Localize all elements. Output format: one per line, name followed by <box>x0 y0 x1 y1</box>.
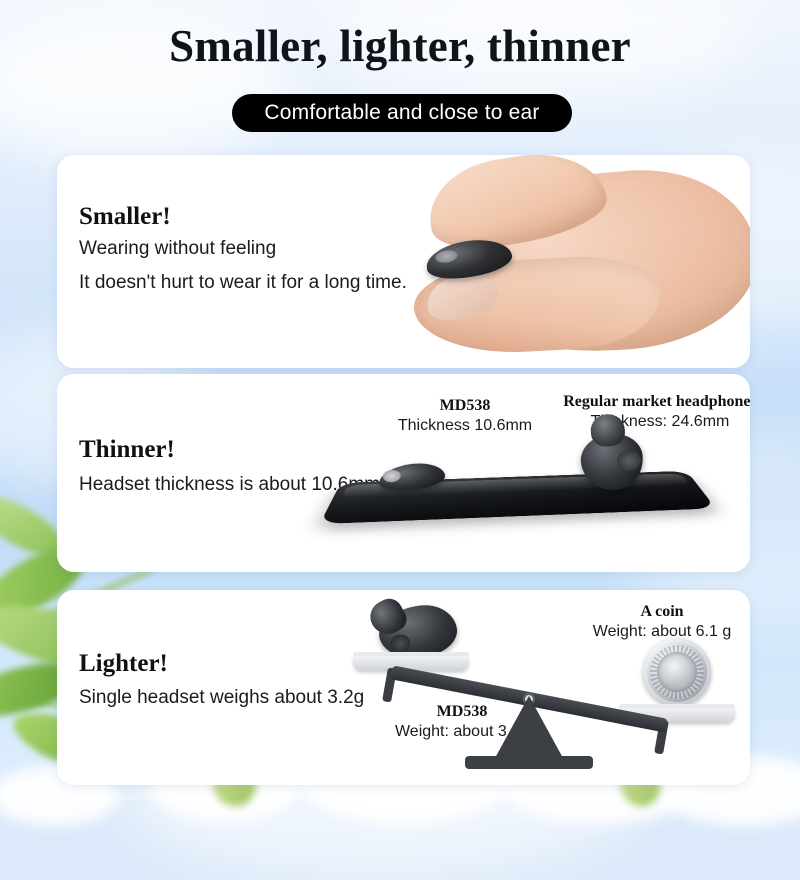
card-title: Smaller! <box>79 203 171 231</box>
feature-card-thinner: Thinner! Headset thickness is about 10.6… <box>57 374 750 572</box>
scale-post <box>495 696 563 758</box>
balance-scale-earbud-vs-coin <box>357 600 707 785</box>
callout-value: Thickness 10.6mm <box>375 416 555 437</box>
coin-icon <box>643 638 711 706</box>
page-headline: Smaller, lighter, thinner <box>0 22 800 71</box>
card-title: Thinner! <box>79 436 175 464</box>
scale-base <box>465 756 593 769</box>
feature-card-lighter: Lighter! Single headset weighs about 3.2… <box>57 590 750 785</box>
subtitle-pill-label: Comfortable and close to ear <box>264 101 539 125</box>
callout-name: Regular market headphones <box>535 392 750 412</box>
card-line-1: Single headset weighs about 3.2g <box>79 687 364 709</box>
feature-card-smaller: Smaller! Wearing without feeling It does… <box>57 155 750 368</box>
card-line-2: It doesn't hurt to wear it for a long ti… <box>79 272 407 294</box>
callout-md538-thickness: MD538 Thickness 10.6mm <box>375 396 555 437</box>
callout-regular-thickness: Regular market headphones Thickness: 24.… <box>535 392 750 433</box>
card-title: Lighter! <box>79 650 168 678</box>
callout-name: MD538 <box>375 396 555 416</box>
subtitle-pill: Comfortable and close to ear <box>232 94 572 132</box>
card-line-1: Wearing without feeling <box>79 238 276 260</box>
hand-holding-earbud-photo <box>390 155 750 368</box>
callout-value: Thickness: 24.6mm <box>535 412 750 433</box>
